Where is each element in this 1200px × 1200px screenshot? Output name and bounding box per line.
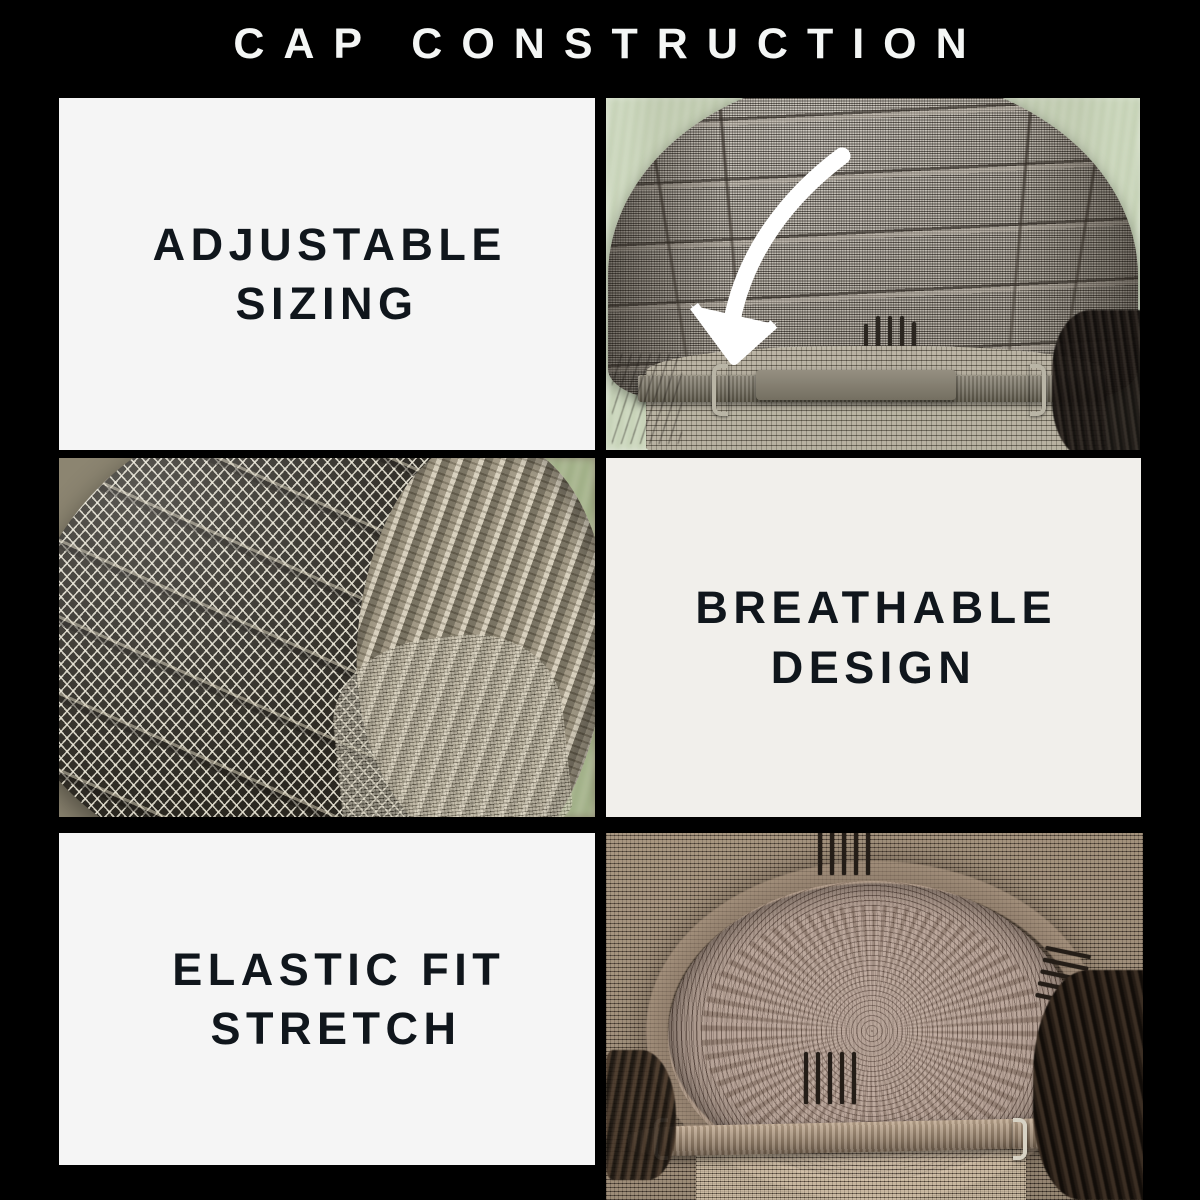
comb-tooth [852, 1052, 856, 1104]
feature-label-line1: ELASTIC FIT [172, 944, 505, 995]
feature-label-line1: BREATHABLE [695, 582, 1057, 633]
feature-label-line2: DESIGN [771, 642, 977, 693]
feature-card-breathable-design: BREATHABLE DESIGN [606, 458, 1141, 817]
feature-image-breathable-mesh [59, 458, 595, 817]
comb-tooth [854, 833, 858, 875]
wig-comb-top [818, 833, 870, 875]
hair-strands-left [606, 1050, 676, 1180]
hair-strands-left [612, 354, 682, 444]
comb-tooth [818, 833, 822, 875]
comb-tooth [830, 833, 834, 875]
feature-label-line1: ADJUSTABLE [153, 219, 507, 270]
strap-hook-right [1013, 1118, 1027, 1160]
strap-hook-right [1030, 364, 1046, 416]
curved-down-arrow-icon [674, 146, 864, 396]
feature-card-adjustable-sizing: ADJUSTABLE SIZING [59, 98, 595, 450]
comb-tooth [1043, 958, 1089, 971]
feature-label-elastic-fit-stretch: ELASTIC FIT STRETCH [167, 940, 505, 1059]
hair-strands-right [1033, 970, 1143, 1200]
feature-image-wig-cap-interior [606, 833, 1143, 1200]
feature-label-line2: SIZING [235, 278, 418, 329]
comb-tooth [828, 1052, 832, 1104]
feature-card-elastic-fit-stretch: ELASTIC FIT STRETCH [59, 833, 595, 1165]
cap-construction-infographic: CAP CONSTRUCTION ADJUSTABLE SIZING [0, 0, 1200, 1200]
feature-label-breathable-design: BREATHABLE DESIGN [690, 578, 1057, 697]
page-title: CAP CONSTRUCTION [214, 23, 985, 66]
feature-image-wig-cap-back [606, 98, 1140, 450]
header: CAP CONSTRUCTION [0, 8, 1200, 80]
wig-comb-bottom [804, 1052, 856, 1104]
comb-tooth [804, 1052, 808, 1104]
feature-label-line2: STRETCH [210, 1003, 461, 1054]
comb-tooth [866, 833, 870, 875]
hair-strands-right [1052, 310, 1140, 450]
feature-label-adjustable-sizing: ADJUSTABLE SIZING [147, 215, 507, 334]
comb-tooth [842, 833, 846, 875]
comb-tooth [816, 1052, 820, 1104]
comb-tooth [840, 1052, 844, 1104]
